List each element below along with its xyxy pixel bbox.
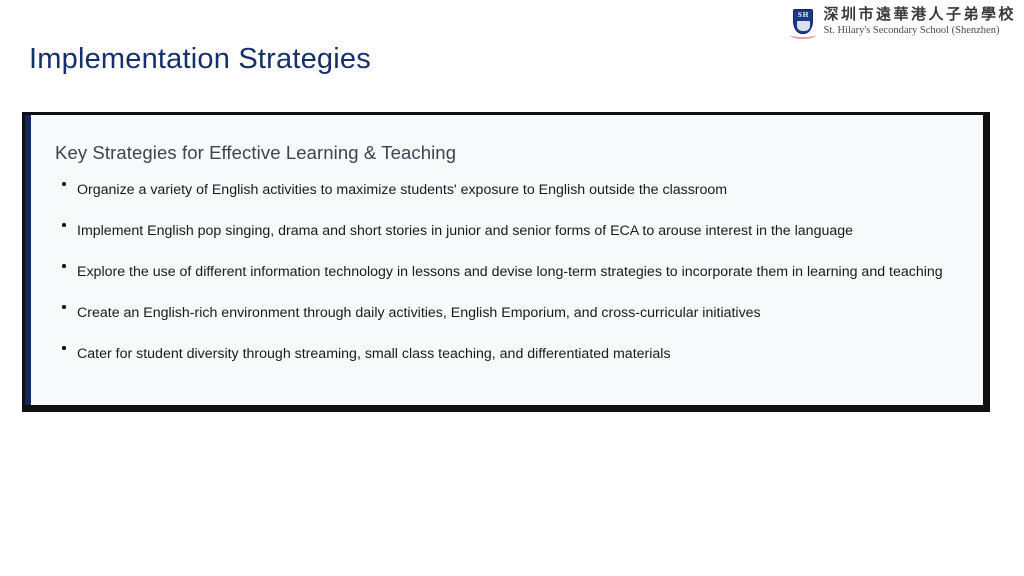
- panel-body: Key Strategies for Effective Learning & …: [31, 115, 983, 405]
- strategy-list: Organize a variety of English activities…: [55, 178, 957, 366]
- list-item-text: Organize a variety of English activities…: [77, 182, 727, 198]
- school-crest-icon: SH: [790, 9, 816, 41]
- bullet-dot-icon: [62, 182, 66, 186]
- school-logo: SH 深圳市遠華港人子弟學校 St. Hilary's Secondary Sc…: [790, 7, 1016, 41]
- logo-text-group: 深圳市遠華港人子弟學校 St. Hilary's Secondary Schoo…: [823, 7, 1016, 37]
- crest-initials: SH: [798, 11, 809, 20]
- school-name-english: St. Hilary's Secondary School (Shenzhen): [823, 26, 1016, 37]
- panel-heading: Key Strategies for Effective Learning & …: [55, 142, 957, 164]
- bullet-dot-icon: [62, 346, 66, 350]
- bullet-dot-icon: [62, 264, 66, 268]
- slide: SH 深圳市遠華港人子弟學校 St. Hilary's Secondary Sc…: [0, 0, 1024, 576]
- crest-inner-emblem: [797, 21, 810, 31]
- list-item: Explore the use of different information…: [55, 260, 957, 284]
- list-item-text: Create an English-rich environment throu…: [77, 305, 761, 321]
- list-item: Organize a variety of English activities…: [55, 178, 957, 202]
- crest-ribbon-icon: [790, 31, 816, 39]
- page-title: Implementation Strategies: [29, 43, 371, 76]
- list-item-text: Explore the use of different information…: [77, 264, 943, 280]
- list-item: Implement English pop singing, drama and…: [55, 219, 957, 243]
- list-item: Cater for student diversity through stre…: [55, 342, 957, 366]
- bullet-dot-icon: [62, 305, 66, 309]
- list-item-text: Implement English pop singing, drama and…: [77, 223, 853, 239]
- bullet-dot-icon: [62, 223, 66, 227]
- school-name-chinese: 深圳市遠華港人子弟學校: [823, 7, 1016, 22]
- content-panel: Key Strategies for Effective Learning & …: [22, 112, 990, 412]
- list-item-text: Cater for student diversity through stre…: [77, 346, 671, 362]
- list-item: Create an English-rich environment throu…: [55, 301, 957, 325]
